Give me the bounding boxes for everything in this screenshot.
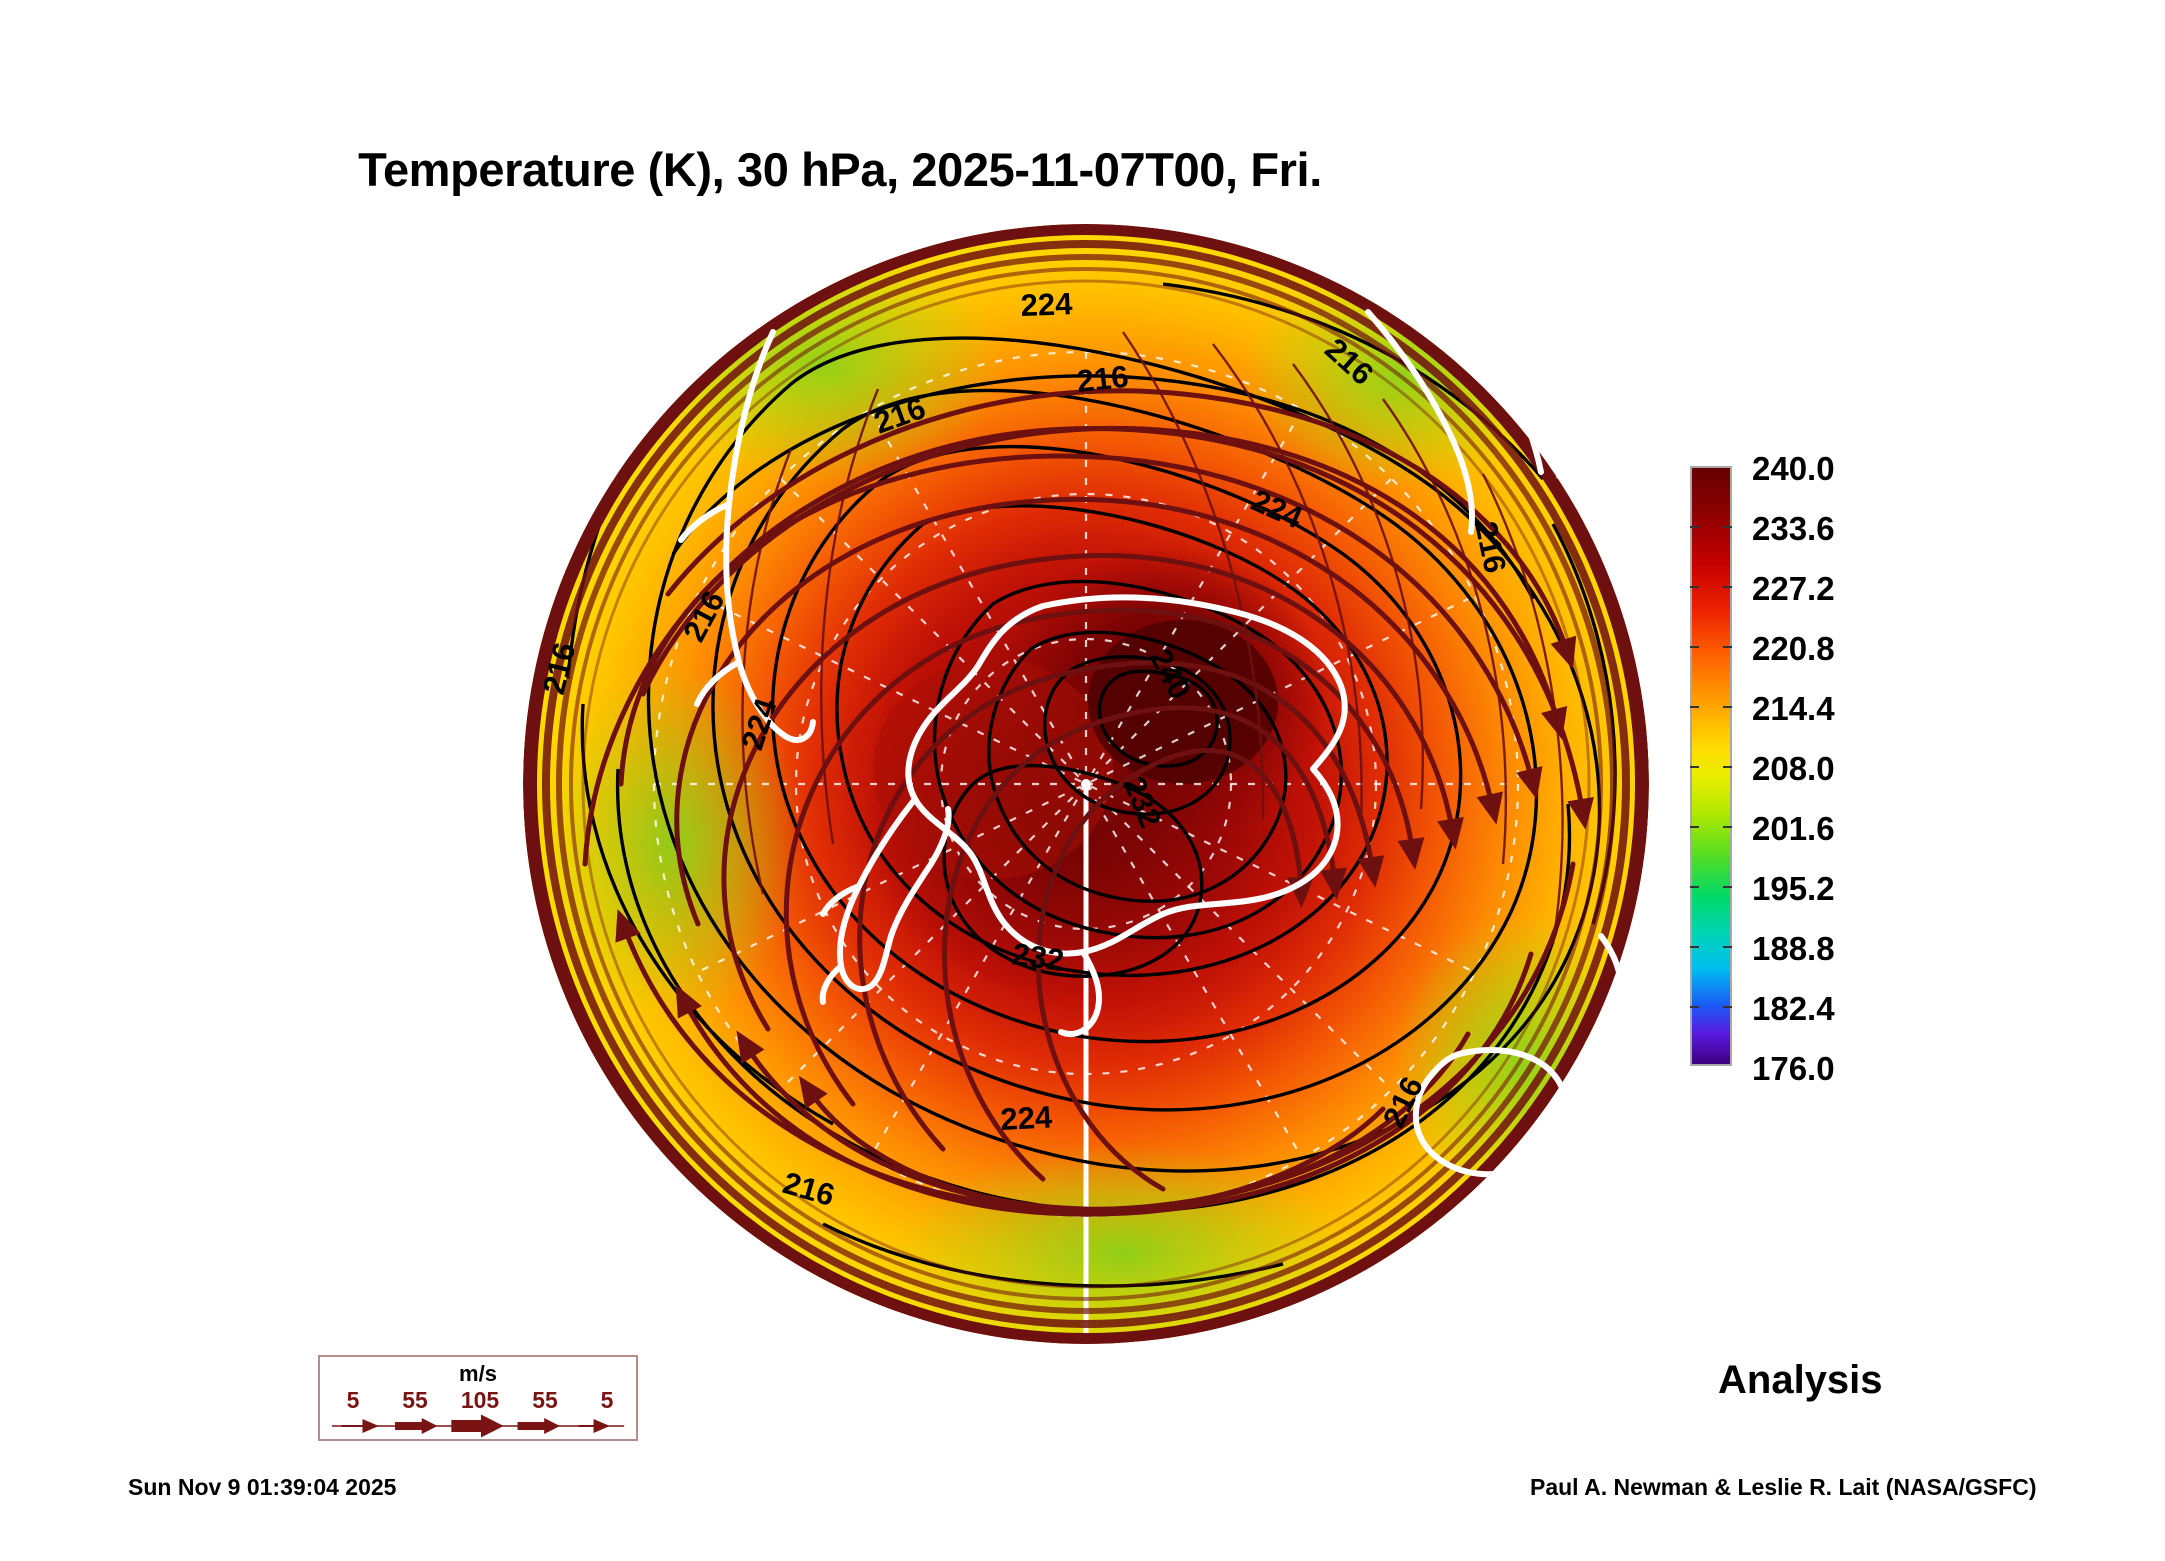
colorbar-tick [1723, 586, 1732, 588]
colorbar-tick [1690, 826, 1699, 828]
colorbar-panel: 240.0 233.6 227.2 220.8 214.4 208.0 201.… [1690, 466, 2110, 1086]
colorbar-label: 176.0 [1752, 1052, 1835, 1085]
colorbar-label: 188.8 [1752, 932, 1835, 965]
colorbar-tick [1723, 826, 1732, 828]
colorbar-label: 227.2 [1752, 572, 1835, 605]
colorbar-label: 182.4 [1752, 992, 1835, 1025]
colorbar-tick [1723, 766, 1732, 768]
svg-text:232: 232 [1010, 936, 1066, 978]
generation-timestamp: Sun Nov 9 01:39:04 2025 [128, 1474, 396, 1501]
polar-map-panel: 216 216 216 216 216 216 216 216 224 224 … [523, 224, 1649, 1344]
wind-key-value: 55 [386, 1387, 444, 1414]
temperature-map: 216 216 216 216 216 216 216 216 224 224 … [523, 224, 1649, 1344]
wind-key-units-label: m/s [320, 1361, 636, 1387]
colorbar-tick [1690, 526, 1699, 528]
colorbar-label: 240.0 [1752, 452, 1835, 485]
colorbar-tick [1723, 646, 1732, 648]
colorbar-tick [1690, 1006, 1699, 1008]
colorbar-tick [1723, 526, 1732, 528]
south-pole-marker [1081, 779, 1091, 789]
svg-text:216: 216 [1075, 359, 1130, 399]
globe-disc: 216 216 216 216 216 216 216 216 224 224 … [523, 224, 1649, 1344]
wind-key-value: 105 [451, 1387, 509, 1414]
colorbar-tick [1723, 706, 1732, 708]
wind-speed-key: m/s 5 55 105 55 5 [318, 1355, 638, 1441]
wind-key-value: 55 [516, 1387, 574, 1414]
colorbar-tick [1690, 766, 1699, 768]
svg-text:224: 224 [1000, 1099, 1054, 1137]
wind-key-value: 5 [324, 1387, 382, 1414]
analysis-label: Analysis [1718, 1358, 1883, 1403]
author-credit: Paul A. Newman & Leslie R. Lait (NASA/GS… [1530, 1474, 2037, 1501]
colorbar-label: 220.8 [1752, 632, 1835, 665]
colorbar-tick [1690, 706, 1699, 708]
colorbar-tick [1690, 886, 1699, 888]
page-title: Temperature (K), 30 hPa, 2025-11-07T00, … [0, 142, 1680, 197]
colorbar-label: 201.6 [1752, 812, 1835, 845]
colorbar-label: 208.0 [1752, 752, 1835, 785]
colorbar-tick [1723, 886, 1732, 888]
colorbar-tick [1723, 1006, 1732, 1008]
colorbar-tick [1690, 586, 1699, 588]
wind-key-arrow-scale [320, 1413, 636, 1439]
svg-text:224: 224 [1020, 286, 1074, 323]
colorbar-tick [1723, 946, 1732, 948]
colorbar-label: 195.2 [1752, 872, 1835, 905]
colorbar-label: 214.4 [1752, 692, 1835, 725]
colorbar-tick [1690, 946, 1699, 948]
wind-key-value: 5 [578, 1387, 636, 1414]
colorbar-label: 233.6 [1752, 512, 1835, 545]
colorbar-tick [1690, 646, 1699, 648]
